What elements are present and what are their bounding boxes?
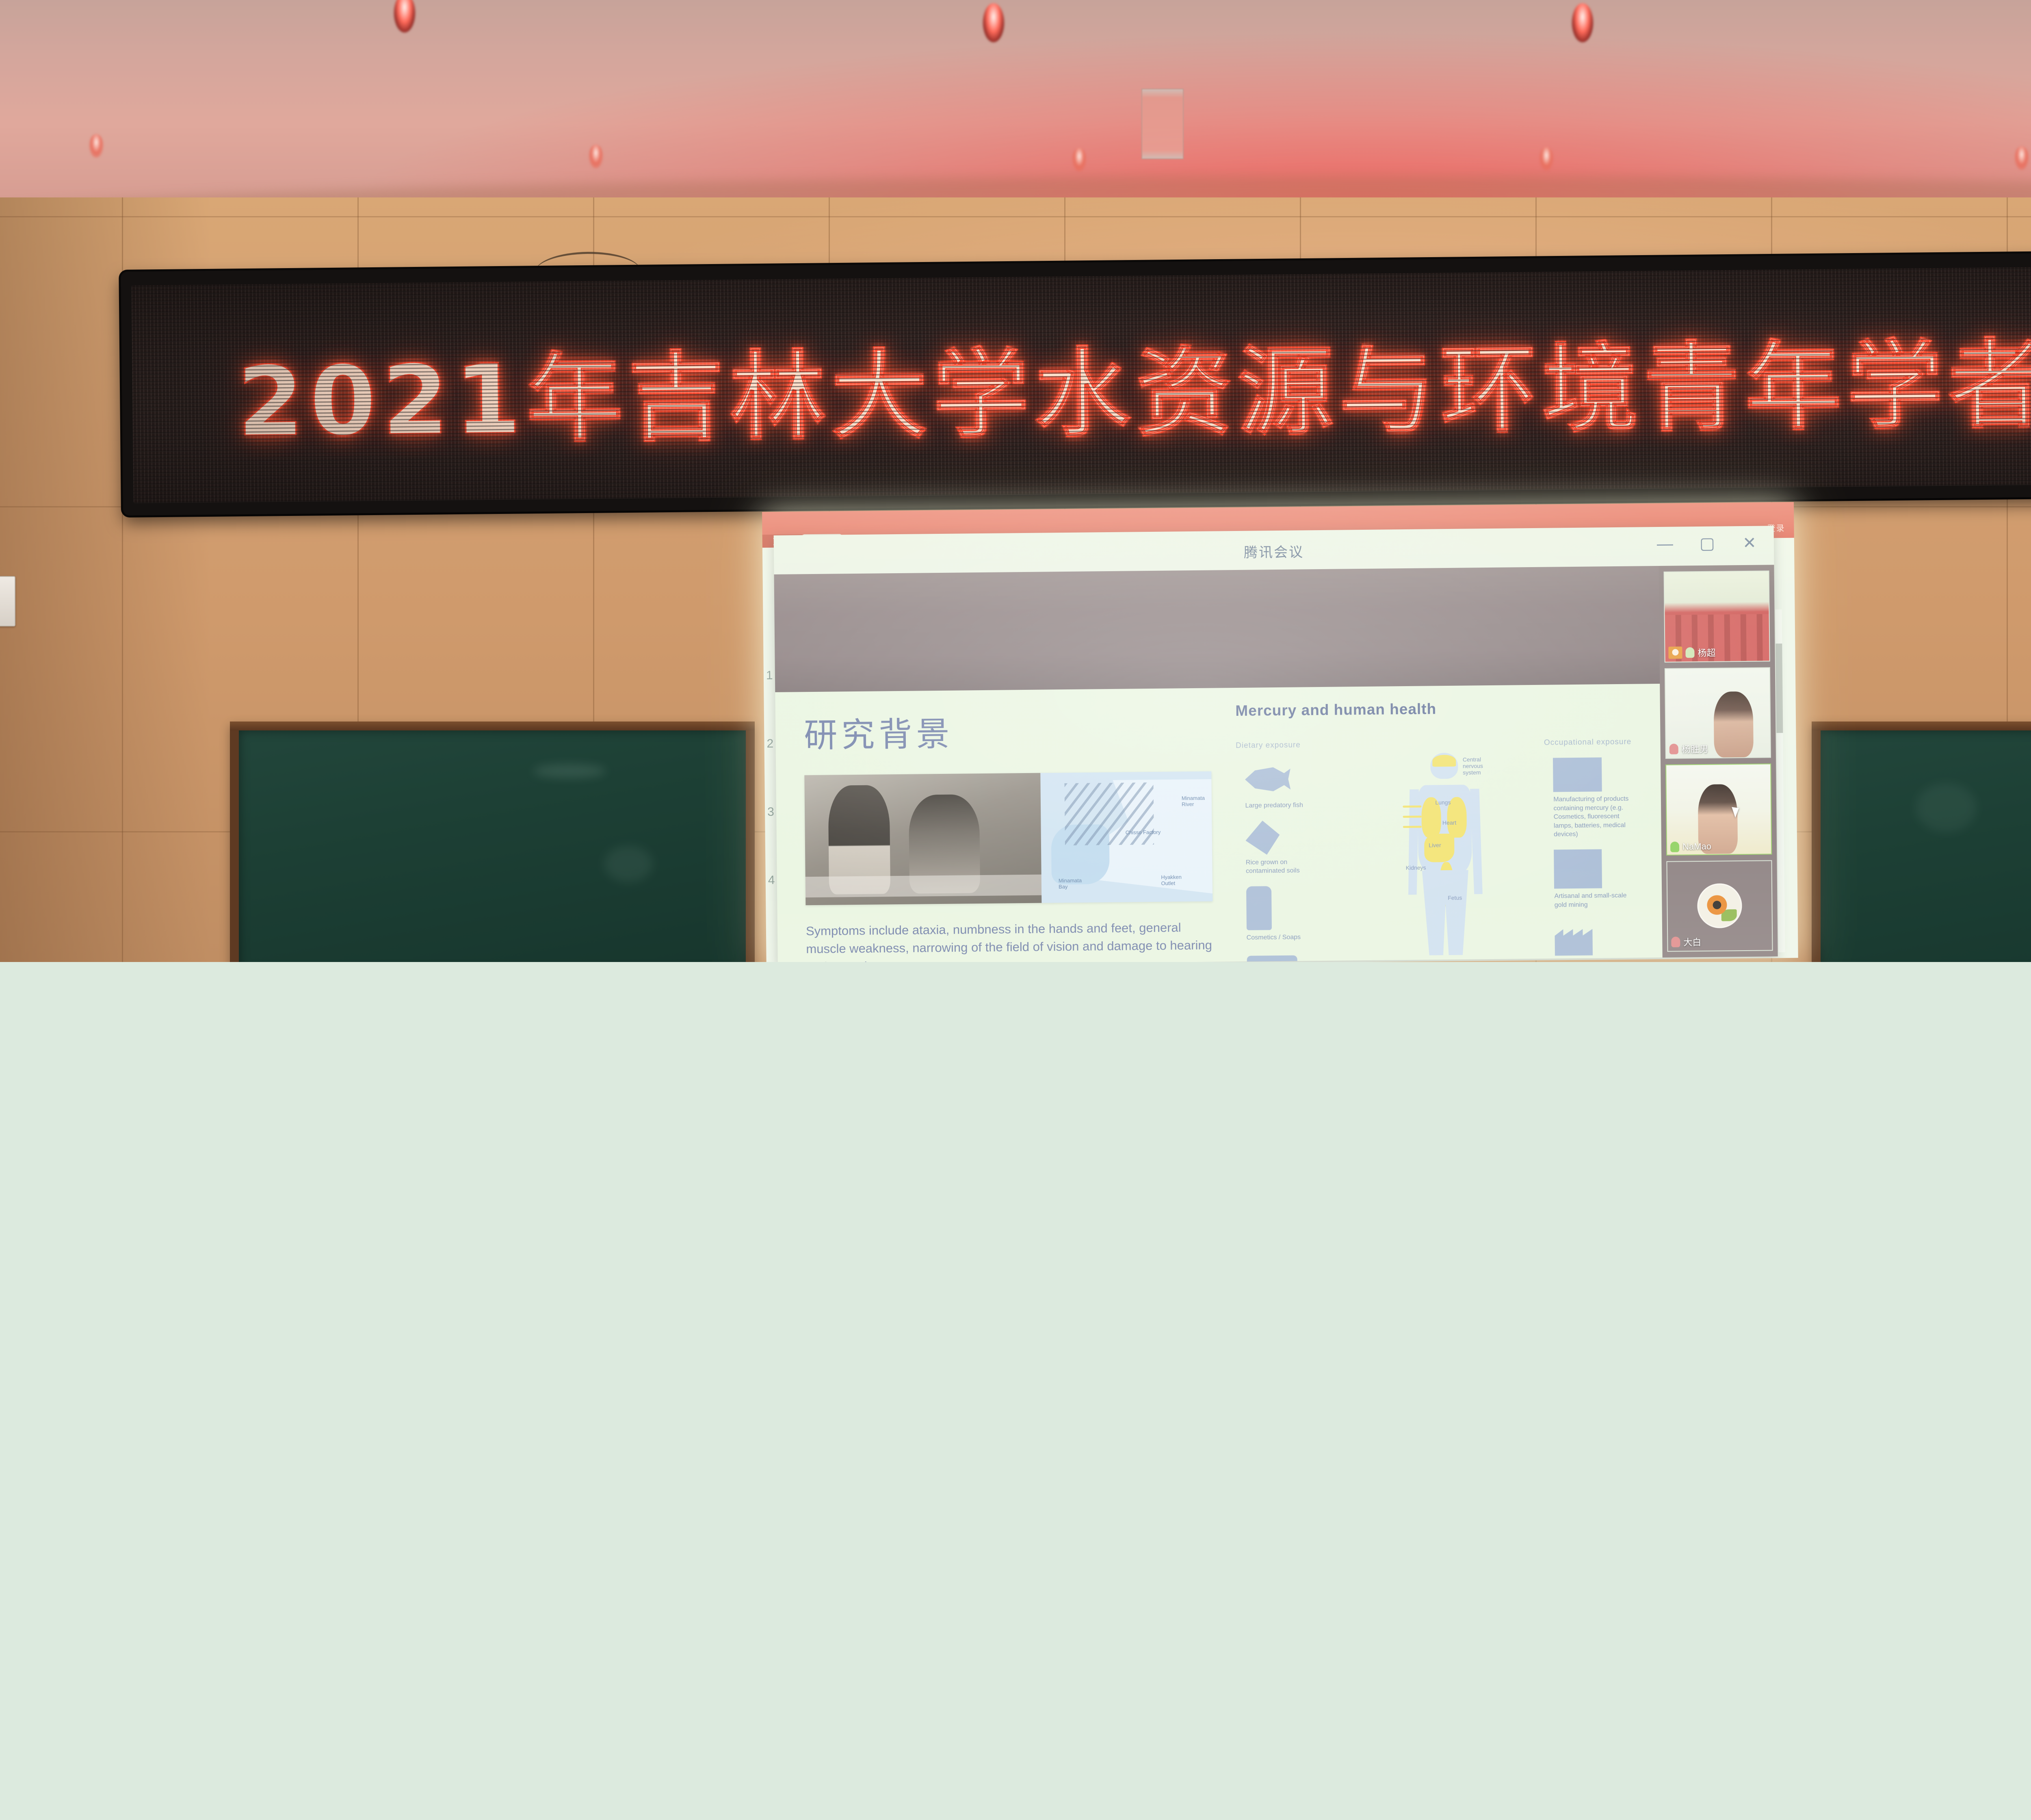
microphone-icon bbox=[1685, 647, 1694, 658]
minamata-patient-photo bbox=[804, 773, 1041, 906]
organ-label: Fetus bbox=[1448, 894, 1462, 901]
dietary-exposure-heading: Dietary exposure bbox=[1236, 740, 1344, 750]
participant-tile[interactable]: 杨胜男 bbox=[1665, 667, 1771, 759]
projection-screen: 文件 开始 插入 设计 切换 动画 幻灯片放映 审阅 视图 登录 bbox=[762, 502, 1798, 962]
led-scrolling-banner: 2021年吉林大学水资源与环境青年学者在线论坛 bbox=[121, 248, 2031, 516]
factory-icon bbox=[1555, 919, 1616, 955]
window-controls: — ▢ ✕ bbox=[1657, 535, 1758, 552]
organ-label: Liver bbox=[1429, 842, 1441, 848]
blackboard-trim bbox=[1812, 721, 2031, 730]
wall-fixture-left bbox=[0, 576, 15, 626]
human-body-diagram: Central nervous system Lungs Heart Liver… bbox=[1344, 739, 1546, 961]
participant-video-rail: 杨超 杨胜男 bbox=[1659, 565, 1778, 958]
slide-body-text: Symptoms include ataxia, numbness in the… bbox=[806, 919, 1213, 962]
presentation-slide: 研究背景 bbox=[775, 684, 1662, 962]
host-badge-icon bbox=[1668, 646, 1682, 659]
map-label: MinamataRiver bbox=[1182, 795, 1205, 807]
microphone-muted-icon bbox=[1671, 937, 1680, 947]
meeting-main-area: 研究背景 bbox=[774, 565, 1778, 962]
body-exposure-ray bbox=[1403, 826, 1422, 828]
scrollbar-thumb[interactable] bbox=[1776, 643, 1783, 733]
ceiling-sprinkler bbox=[1539, 147, 1553, 171]
slide-right-column: Mercury and human health Dietary exposur… bbox=[1235, 698, 1654, 962]
body-exposure-ray bbox=[1403, 806, 1422, 808]
slide-title: 研究背景 bbox=[804, 704, 1211, 757]
gold-mining-icon bbox=[1554, 849, 1602, 888]
body-arm-left bbox=[1396, 789, 1420, 895]
participant-name: 大白 bbox=[1683, 935, 1701, 948]
lecture-hall-photo: 2021年吉林大学水资源与环境青年学者在线论坛 文件 开始 插入 设计 切换 动… bbox=[0, 0, 2031, 962]
dietary-item: Rice grown on contaminated soils bbox=[1246, 857, 1327, 875]
wall-seam-horizontal bbox=[0, 216, 2031, 217]
bottom-fill-area bbox=[0, 962, 2031, 1820]
body-brain-highlight bbox=[1433, 754, 1456, 767]
participant-nameplate: 杨超 bbox=[1668, 646, 1715, 659]
participant-name: 杨胜男 bbox=[1682, 742, 1708, 756]
slide-right-title: Mercury and human health bbox=[1235, 698, 1652, 719]
ceiling-sprinkler bbox=[2015, 146, 2029, 170]
slide-right-columns: Dietary exposure Large predatory fish Ri… bbox=[1236, 737, 1654, 962]
ceiling-downlight bbox=[394, 0, 415, 32]
fluorescent-lamp-icon bbox=[1553, 757, 1602, 792]
ceiling-downlight bbox=[983, 3, 1004, 42]
occupational-item: Artisanal and small-scale gold mining bbox=[1555, 891, 1636, 910]
dietary-exposure-column: Dietary exposure Large predatory fish Ri… bbox=[1236, 740, 1346, 962]
participant-nameplate: 大白 bbox=[1671, 935, 1701, 949]
maximize-icon[interactable]: ▢ bbox=[1699, 535, 1715, 552]
slide-left-column: 研究背景 bbox=[804, 704, 1214, 962]
participant-tile-active[interactable]: NaMao bbox=[1665, 763, 1772, 855]
led-screen: 2021年吉林大学水资源与环境青年学者在线论坛 bbox=[132, 262, 2031, 503]
participant-tile[interactable]: 大白 bbox=[1666, 860, 1773, 952]
map-label: HyakkenOutlet bbox=[1161, 874, 1182, 886]
dietary-item: Large predatory fish bbox=[1245, 801, 1327, 810]
blackboard-left bbox=[230, 721, 755, 962]
organ-label: Central nervous system bbox=[1463, 756, 1503, 776]
occupational-item: Manufacturing of products containing mer… bbox=[1553, 795, 1635, 839]
ceiling-sprinkler bbox=[1072, 148, 1086, 171]
tencent-meeting-window: 腾讯会议 — ▢ ✕ 研究背景 bbox=[774, 526, 1778, 962]
avatar bbox=[1697, 883, 1742, 928]
ceiling-downlight bbox=[1572, 3, 1593, 42]
ceiling-sprinkler bbox=[89, 134, 103, 158]
chalk-smudge bbox=[533, 764, 606, 778]
screenshot-root: 2021年吉林大学水资源与环境青年学者在线论坛 文件 开始 插入 设计 切换 动… bbox=[0, 0, 2031, 1820]
minimize-icon[interactable]: — bbox=[1657, 536, 1673, 552]
participant-name: 杨超 bbox=[1698, 646, 1715, 659]
body-figure: Central nervous system Lungs Heart Liver… bbox=[1386, 752, 1504, 955]
shared-screen-letterbox bbox=[774, 566, 1660, 692]
microphone-icon bbox=[1670, 841, 1679, 852]
chalk-smudge bbox=[604, 846, 653, 882]
participant-name: NaMao bbox=[1682, 841, 1711, 852]
ceiling bbox=[0, 0, 2031, 202]
fish-icon bbox=[1245, 760, 1291, 798]
body-exposure-ray bbox=[1403, 816, 1422, 818]
meeting-title: 腾讯会议 bbox=[774, 536, 1774, 566]
blackboard-right bbox=[1812, 721, 2031, 962]
rice-grain-icon bbox=[1245, 821, 1280, 855]
slide-figure-row: MinamataRiver Chisso Factory MinamataBay… bbox=[804, 771, 1213, 906]
occupational-exposure-column: Occupational exposure Manufacturing of p… bbox=[1544, 737, 1654, 959]
dietary-item: Cosmetics / Soaps bbox=[1247, 933, 1328, 942]
organ-label: Lungs bbox=[1435, 799, 1451, 806]
thermometer-icon bbox=[1247, 955, 1297, 962]
close-icon[interactable]: ✕ bbox=[1741, 535, 1758, 551]
participant-nameplate: 杨胜男 bbox=[1669, 742, 1708, 756]
cosmetics-bottle-icon bbox=[1246, 886, 1272, 930]
map-label: Chisso Factory bbox=[1126, 829, 1161, 836]
participant-tile[interactable]: 杨超 bbox=[1664, 570, 1770, 662]
microphone-muted-icon bbox=[1669, 744, 1678, 754]
led-vignette bbox=[132, 262, 2031, 503]
chalk-smudge bbox=[1916, 783, 1977, 832]
shared-screen-stage: 研究背景 bbox=[774, 566, 1663, 962]
minamata-bay-map: MinamataRiver Chisso Factory MinamataBay… bbox=[1040, 771, 1213, 903]
blackboard-trim bbox=[230, 721, 755, 730]
map-label: MinamataBay bbox=[1059, 877, 1082, 890]
ceiling-vent bbox=[1141, 89, 1184, 159]
body-arm-right bbox=[1470, 789, 1494, 894]
organ-label: Kidneys bbox=[1406, 864, 1426, 871]
ceiling-sprinkler bbox=[589, 145, 603, 168]
body-legs bbox=[1422, 870, 1469, 955]
organ-label: Heart bbox=[1442, 819, 1456, 826]
participant-nameplate: NaMao bbox=[1670, 841, 1711, 852]
photo-bed bbox=[805, 874, 1042, 897]
map-contamination-dots bbox=[1064, 782, 1154, 846]
occupational-exposure-heading: Occupational exposure bbox=[1544, 737, 1652, 747]
